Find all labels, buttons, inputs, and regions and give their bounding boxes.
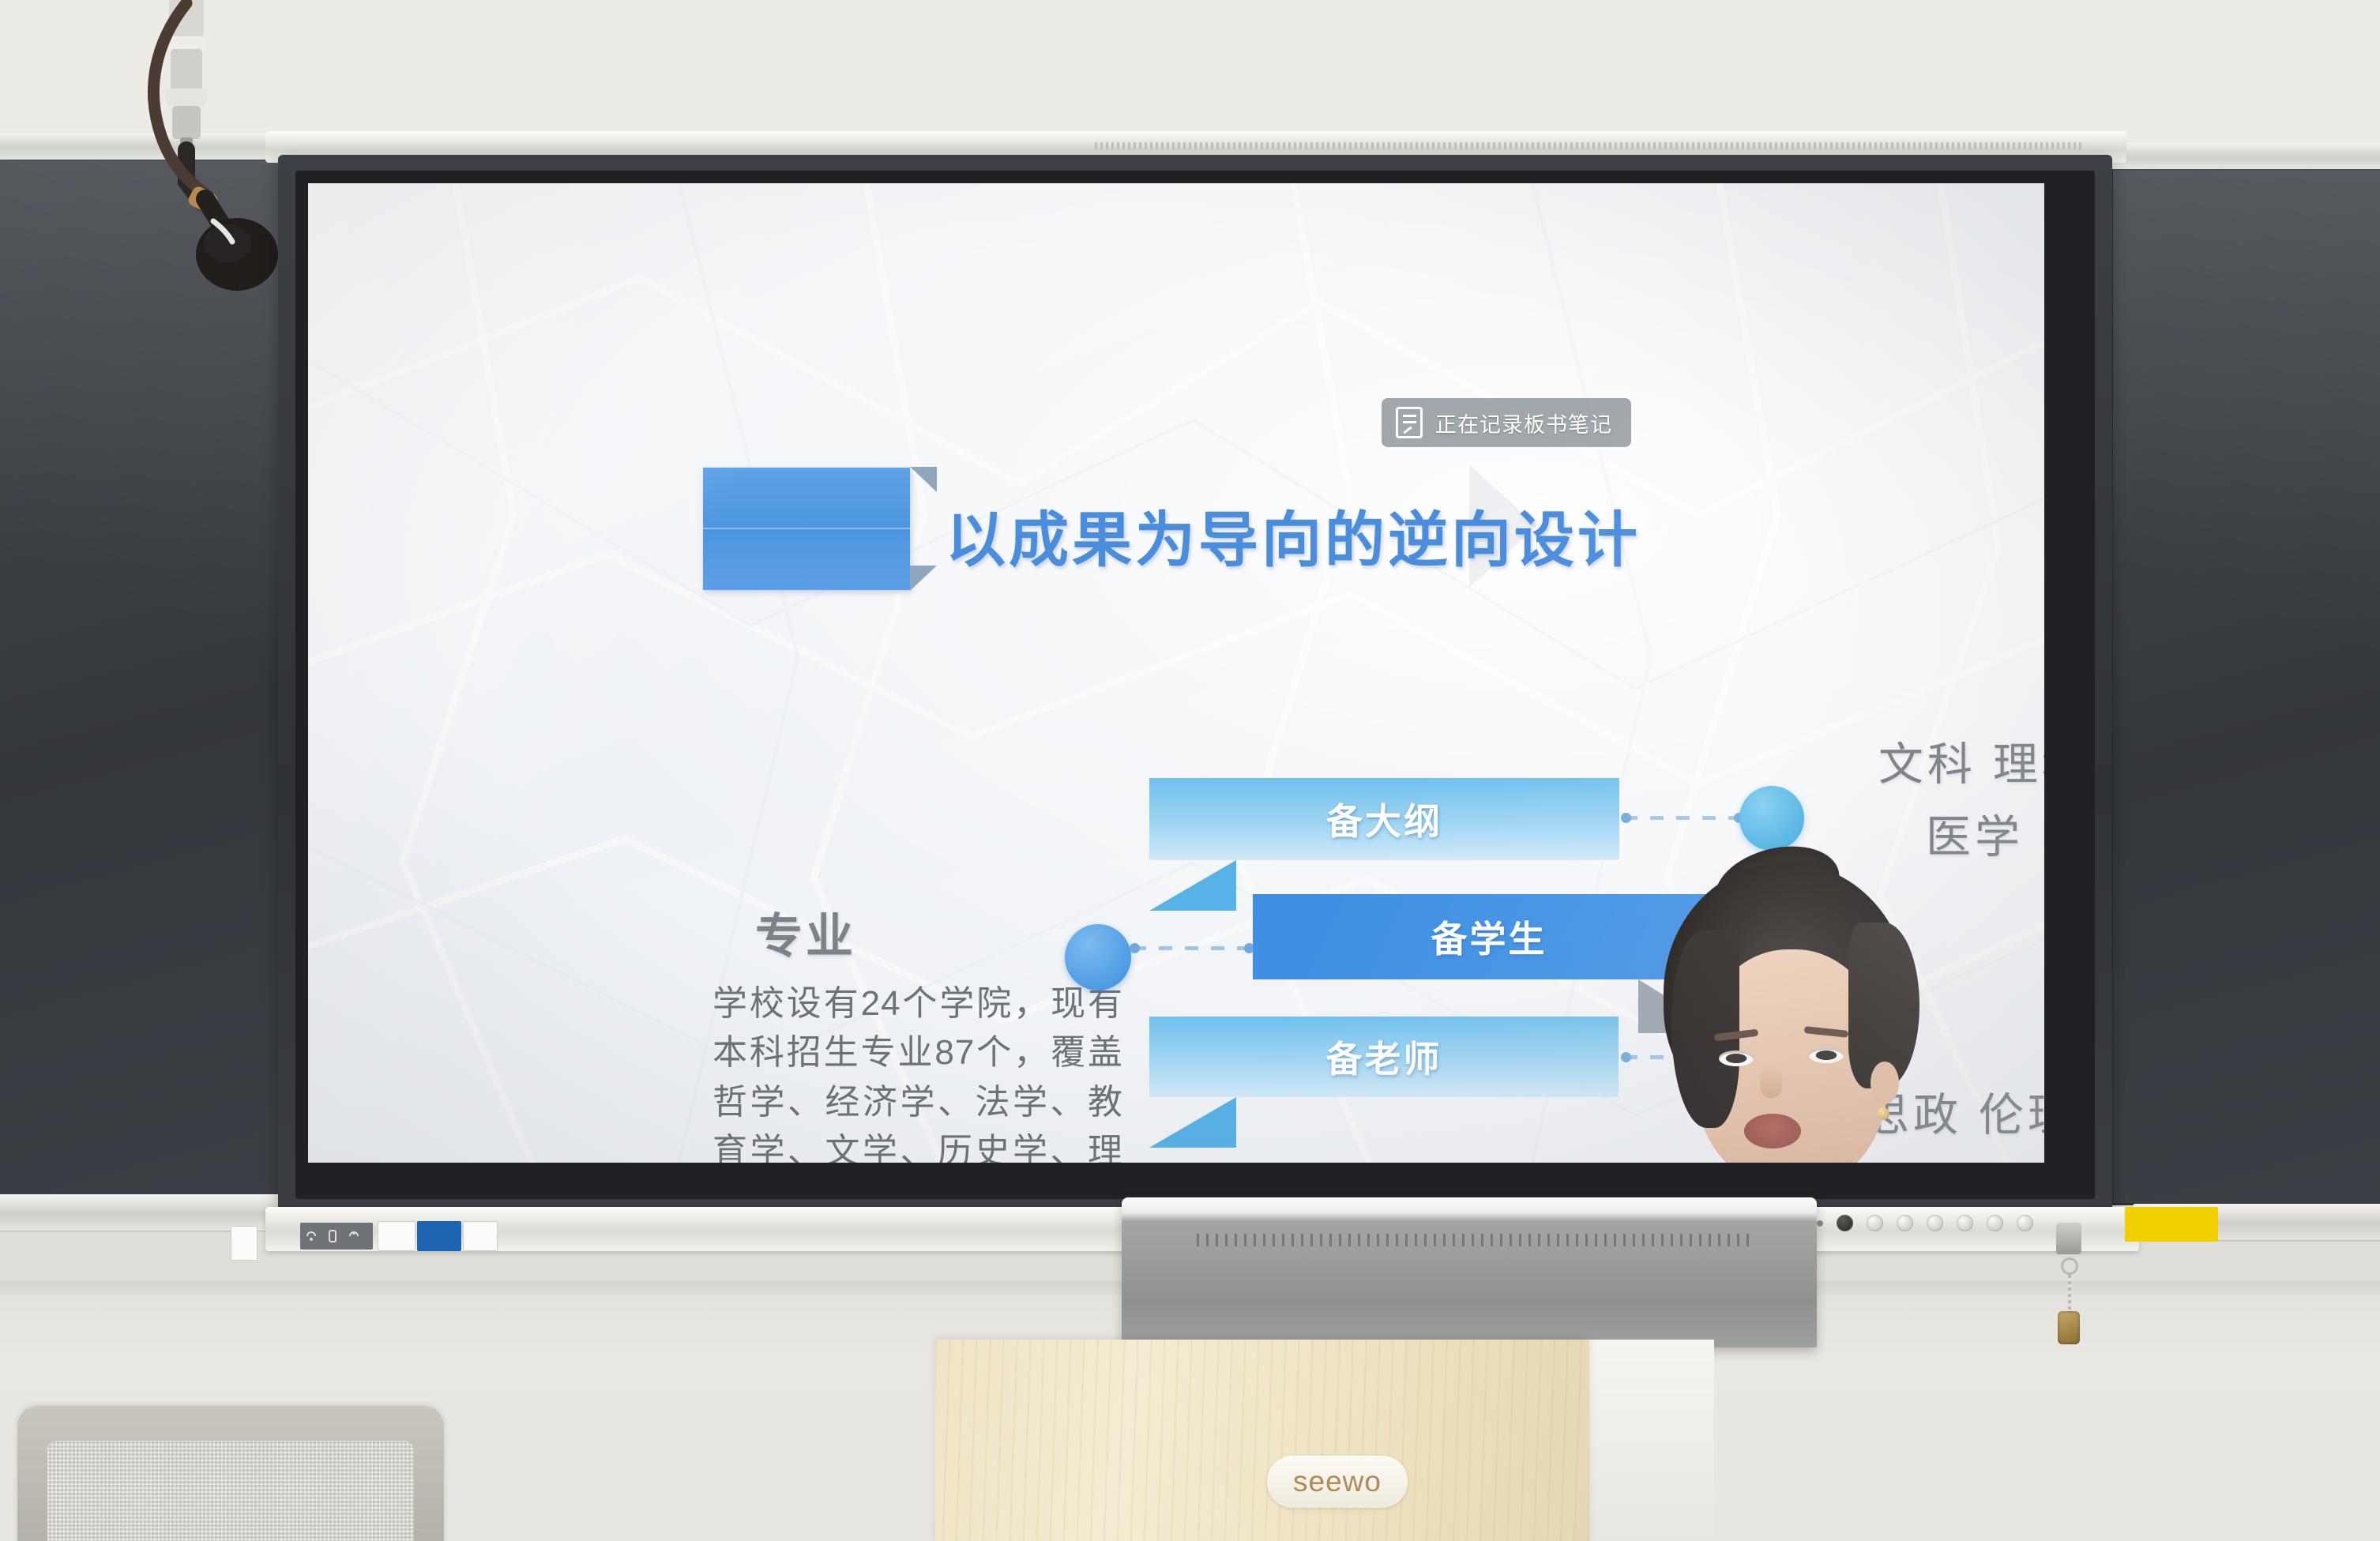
blackboard-panel-right — [2093, 155, 2380, 1205]
blackboard-panel-left — [0, 147, 316, 1197]
eye-right — [1809, 1047, 1844, 1063]
connector-dash-left — [1133, 946, 1251, 950]
title-ribbon-icon — [703, 468, 910, 590]
power-led — [1817, 1220, 1823, 1227]
flow-box-teachers-tail — [1149, 1097, 1236, 1148]
certification-sticker — [417, 1221, 461, 1251]
seewo-logo-badge: seewo — [1267, 1456, 1408, 1508]
rail-top-right — [2092, 142, 2380, 169]
ifp-vent — [1095, 142, 2082, 149]
side-qr-sticker — [231, 1226, 258, 1261]
hair-side-left — [1671, 930, 1739, 1128]
ribbon-fold-line — [703, 528, 910, 529]
right-label-subjects-1: 文科 理科 工科 — [1878, 728, 2044, 793]
presentation-slide[interactable]: 正在记录板书笔记 以成果为导向的逆向设计 — [308, 183, 2044, 1163]
recording-badge: 正在记录板书笔记 — [1382, 398, 1631, 447]
lock-plate — [2056, 1223, 2081, 1254]
flow-box-teachers-label: 备老师 — [1326, 1031, 1442, 1083]
warning-sticker — [463, 1221, 498, 1251]
slide-title: 以成果为导向的逆向设计 — [946, 491, 1641, 578]
qr-sticker — [378, 1221, 415, 1251]
major-heading: 专业 — [712, 898, 1123, 967]
presenter — [1477, 863, 2044, 1163]
bezel-button-6[interactable] — [2017, 1215, 2033, 1231]
key-ring — [2061, 1257, 2078, 1275]
screenshot-root: 正在记录板书笔记 以成果为导向的逆向设计 — [0, 0, 2380, 1541]
ear — [1871, 1062, 1899, 1104]
bezel-button-3[interactable] — [1927, 1215, 1943, 1231]
note-record-icon — [1396, 407, 1423, 438]
flow-box-outline-label: 备大纲 — [1326, 793, 1442, 845]
monitor-vent — [1197, 1234, 1750, 1246]
mouth — [1744, 1114, 1801, 1148]
bezel-buttons[interactable] — [1817, 1215, 2033, 1231]
recording-badge-label: 正在记录板书笔记 — [1435, 408, 1612, 438]
earring — [1877, 1107, 1889, 1120]
podium-wood-grain — [935, 1340, 1589, 1541]
key-fob — [2058, 1311, 2080, 1344]
panel-sheen-left — [0, 149, 314, 1195]
flow-box-outline[interactable]: 备大纲 — [1149, 778, 1619, 860]
bezel-button-1[interactable] — [1867, 1215, 1883, 1231]
major-info-block: 专业 学校设有24个学院，现有本科招生专业87个，覆盖哲学、经济学、法学、教育学… — [712, 898, 1123, 1163]
bezel-sensor-icons — [305, 1229, 360, 1243]
key-chain — [2068, 1275, 2071, 1314]
eye-left — [1719, 1051, 1754, 1066]
ifp-screen[interactable]: 正在记录板书笔记 以成果为导向的逆向设计 — [308, 183, 2044, 1163]
flow-box-outline-tail — [1149, 860, 1236, 911]
connector-dot-topright — [1739, 786, 1804, 851]
bezel-button-2[interactable] — [1897, 1215, 1913, 1231]
podium — [935, 1340, 1589, 1541]
seewo-logo-text: seewo — [1293, 1465, 1382, 1498]
lecture-monitor-back — [1122, 1197, 1817, 1347]
podium-side — [1589, 1340, 1714, 1541]
power-button[interactable] — [1837, 1215, 1853, 1231]
major-body-text: 学校设有24个学院，现有本科招生专业87个，覆盖哲学、经济学、法学、教育学、文学… — [712, 979, 1123, 1163]
wall-key-with-ring — [2051, 1223, 2086, 1341]
chair-mesh-back — [47, 1441, 414, 1541]
bezel-button-5[interactable] — [1987, 1215, 2003, 1231]
laser-warning-sticker — [2125, 1207, 2218, 1242]
interactive-flat-panel: 正在记录板书笔记 以成果为导向的逆向设计 — [278, 155, 2112, 1216]
panel-sheen-right — [2096, 157, 2380, 1203]
connector-dash-topright — [1624, 816, 1741, 820]
nose — [1760, 1066, 1782, 1098]
bezel-button-4[interactable] — [1957, 1215, 1973, 1231]
connector-dot-left — [1065, 924, 1131, 990]
office-chair — [17, 1406, 444, 1541]
right-label-subjects-2: 医学 师范 — [1926, 801, 2044, 866]
